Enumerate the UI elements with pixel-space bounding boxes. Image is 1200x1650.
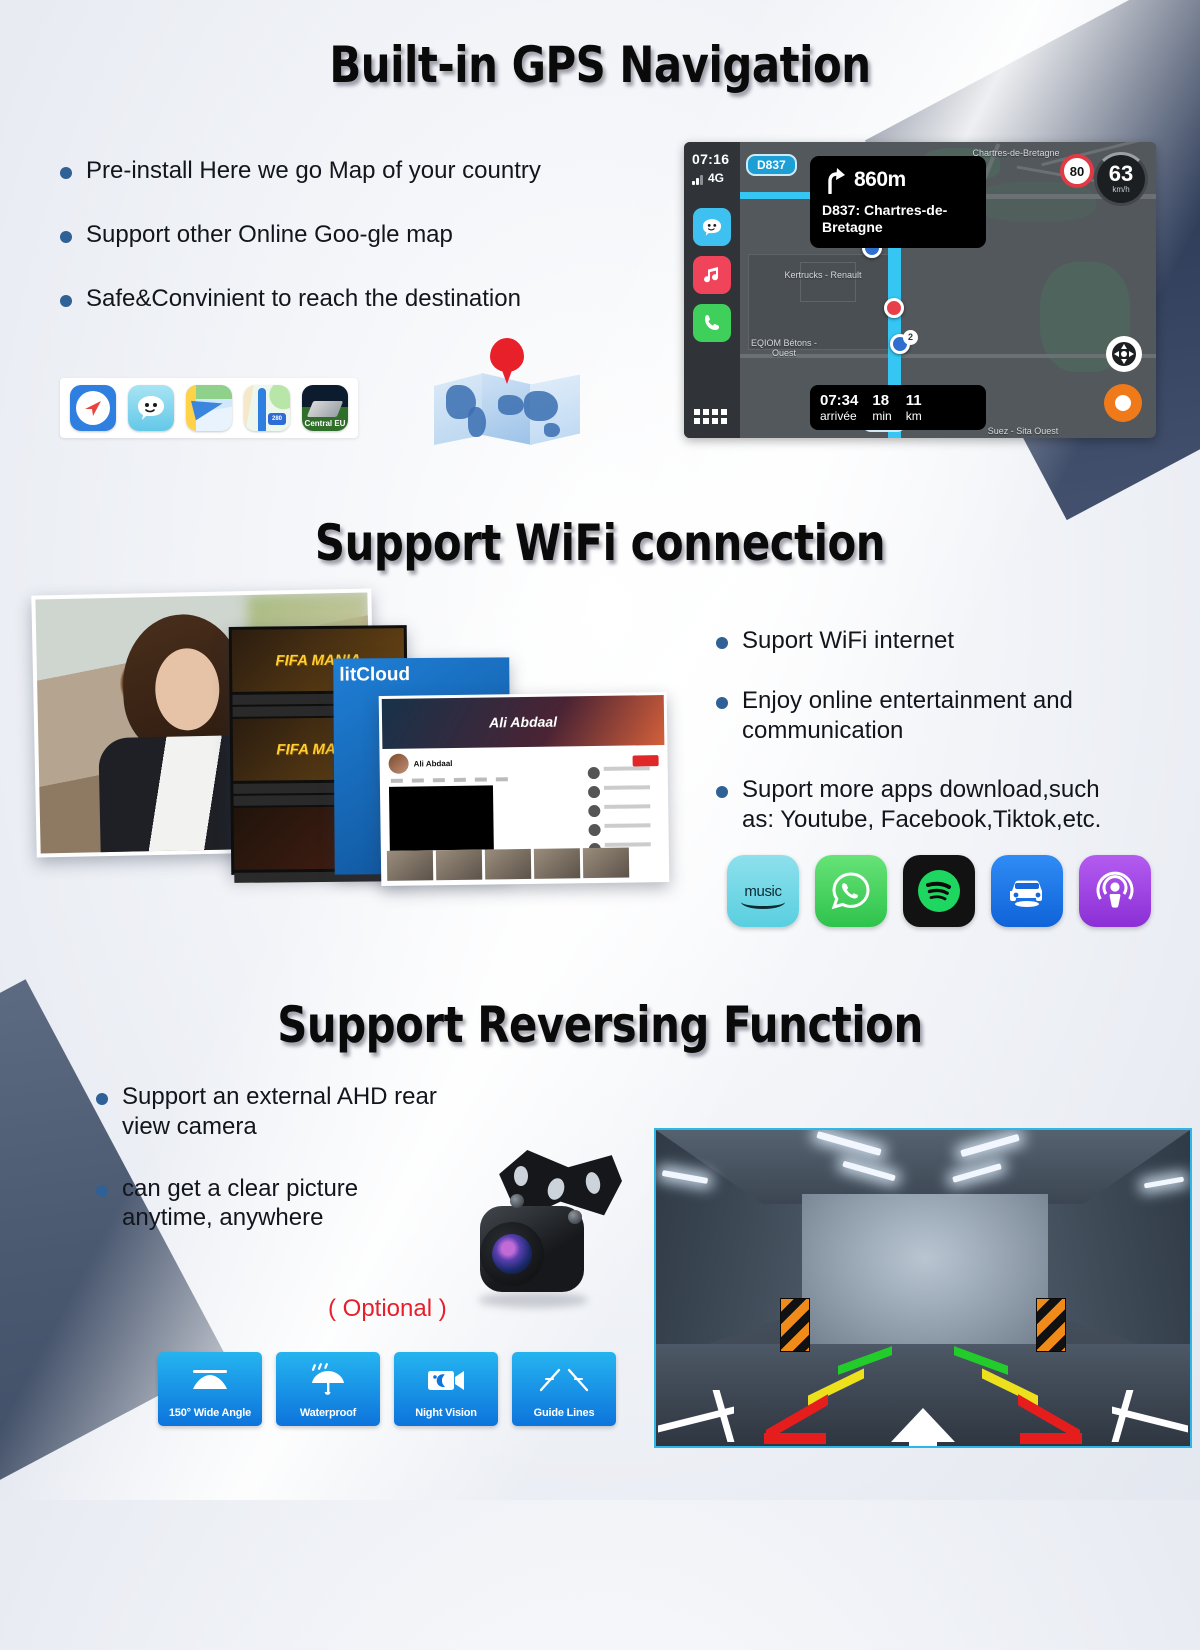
badge-label: Night Vision — [415, 1407, 477, 1419]
gps-section-title: Built-in GPS Navigation — [42, 0, 1158, 94]
sygic-label: Central EU — [302, 419, 348, 428]
list-item: can get a clear picture anytime, anywher… — [92, 1174, 442, 1234]
network-type-label: 4G — [708, 171, 724, 185]
list-item: Safe&Convinient to reach the destination — [56, 284, 596, 314]
reversing-feature-list: Support an external AHD rear view camera… — [92, 1082, 442, 1265]
distance-value: 11 — [906, 392, 922, 409]
map-pin-icon — [490, 338, 524, 372]
carplay-status-bar: 07:16 4G — [684, 142, 740, 185]
wifi-section-title: Support WiFi connection — [42, 500, 1158, 572]
speed-unit: km/h — [1112, 185, 1129, 194]
hazard-report-marker[interactable] — [884, 298, 904, 318]
here-wego-icon[interactable] — [70, 385, 116, 431]
eta-label: arrivée — [820, 409, 858, 423]
carplay-map-canvas[interactable]: D837 D34 D837 Chartres-de-Bretagne Kertr… — [740, 142, 1156, 438]
turn-right-arrow-icon — [822, 166, 846, 194]
direction-arrow-icon — [891, 1408, 955, 1442]
page: Built-in GPS Navigation Pre-install Here… — [0, 0, 1200, 1500]
badge-guide-lines: Guide Lines — [512, 1352, 616, 1426]
police-report-marker-group[interactable]: 2 — [890, 334, 910, 354]
place-label: Suez - Sita Ouest — [984, 426, 1062, 436]
gps-feature-list: Pre-install Here we go Map of your count… — [56, 156, 596, 347]
road-badge-d837: D837 — [746, 154, 797, 176]
signal-strength-icon: 4G — [692, 171, 740, 185]
badge-waterproof: Waterproof — [276, 1352, 380, 1426]
apple-maps-icon[interactable]: 280 — [244, 385, 290, 431]
channel-name: Ali Abdaal — [489, 714, 557, 731]
distance-unit: km — [906, 409, 922, 423]
badge-wide-angle: 150° Wide Angle — [158, 1352, 262, 1426]
spotify-icon[interactable] — [903, 855, 975, 927]
eta-duration: 18 min — [872, 392, 891, 423]
optional-label: ( Optional ) — [328, 1295, 447, 1323]
google-maps-icon[interactable] — [186, 385, 232, 431]
report-count-badge: 2 — [903, 330, 918, 345]
splitcloud-label: litCloud — [339, 663, 503, 686]
wifi-feature-list: Suport WiFi internet Enjoy online entert… — [712, 626, 1112, 865]
pan-control-icon[interactable] — [1106, 336, 1142, 372]
eta-distance: 11 km — [906, 392, 922, 423]
speed-value: 63 — [1109, 164, 1133, 185]
waterproof-umbrella-icon — [276, 1361, 380, 1399]
wifi-screens-collage: FIFA MANIA FIFA MANIA litCloud Ali Abdaa… — [34, 590, 674, 890]
maneuver-street: D837: Chartres-de-Bretagne — [822, 202, 974, 236]
list-item: Support other Online Goo-gle map — [56, 220, 596, 250]
section-gps-navigation: Built-in GPS Navigation Pre-install Here… — [0, 0, 1200, 500]
status-time: 07:16 — [692, 151, 740, 167]
carplay-app-dock — [693, 208, 731, 342]
maneuver-card: 860m D837: Chartres-de-Bretagne — [810, 156, 986, 248]
reversing-camera-view — [654, 1128, 1192, 1448]
wifi-app-icon-row: music — [727, 855, 1151, 927]
duration-value: 18 — [872, 392, 891, 409]
youtube-channel-screen: Ali Abdaal Ali Abdaal — [379, 692, 670, 886]
whatsapp-icon[interactable] — [815, 855, 887, 927]
channel-name-label: Ali Abdaal — [414, 758, 453, 768]
avatar — [388, 754, 408, 774]
video-player[interactable] — [389, 785, 494, 850]
report-button[interactable] — [1104, 384, 1142, 422]
list-item: Pre-install Here we go Map of your count… — [56, 156, 596, 186]
badge-label: Guide Lines — [534, 1407, 595, 1419]
navigation-app-icon-row: 280 Central EU — [60, 378, 358, 438]
list-item: Support an external AHD rear view camera — [92, 1082, 442, 1142]
list-item: Suport WiFi internet — [712, 626, 1112, 656]
app-grid-icon[interactable] — [694, 409, 727, 424]
guide-line-red-bar-right — [1020, 1433, 1082, 1444]
reversing-section-title: Support Reversing Function — [42, 980, 1158, 1054]
waze-icon[interactable] — [693, 208, 731, 246]
guide-line-red-bar-left — [764, 1433, 826, 1444]
rear-view-camera-product-photo — [452, 1150, 632, 1330]
badge-night-vision: Night Vision — [394, 1352, 498, 1426]
wide-angle-icon — [158, 1361, 262, 1399]
phone-icon[interactable] — [693, 304, 731, 342]
place-label: Kertrucks - Renault — [778, 270, 868, 280]
eta-time: 07:34 — [820, 392, 858, 409]
apple-podcasts-icon[interactable] — [1079, 855, 1151, 927]
eta-arrival: 07:34 arrivée — [820, 392, 858, 423]
music-icon[interactable] — [693, 256, 731, 294]
sygic-icon[interactable]: Central EU — [302, 385, 348, 431]
speed-limit-sign: 80 — [1060, 154, 1094, 188]
camera-feature-badges: 150° Wide Angle Waterproof — [158, 1352, 616, 1426]
night-vision-camera-icon — [394, 1361, 498, 1399]
carplay-navigation-screen[interactable]: 07:16 4G — [684, 142, 1156, 438]
parking-bay-line-right — [1068, 1384, 1188, 1440]
apple-maps-route-label: 280 — [268, 413, 286, 425]
guide-lines-icon — [512, 1361, 616, 1399]
waze-icon[interactable] — [128, 385, 174, 431]
list-item: Suport more apps download,such as: Youtu… — [712, 775, 1112, 835]
badge-label: Waterproof — [300, 1407, 356, 1419]
duration-unit: min — [872, 409, 891, 423]
badge-label: 150° Wide Angle — [169, 1407, 251, 1419]
amazon-music-icon[interactable]: music — [727, 855, 799, 927]
subscribe-button[interactable] — [633, 755, 659, 766]
list-item: Enjoy online entertainment and communica… — [712, 686, 1112, 746]
place-label: EQIOM Bétons - Ouest — [740, 338, 830, 359]
car-app-icon[interactable] — [991, 855, 1063, 927]
parking-bay-line-left — [658, 1384, 778, 1440]
maneuver-distance: 860m — [854, 168, 906, 192]
carplay-sidebar: 07:16 4G — [684, 142, 740, 438]
eta-bar: 07:34 arrivée 18 min 11 km — [810, 385, 986, 430]
speedometer: 63 km/h — [1094, 152, 1148, 206]
world-map-graphic — [432, 340, 582, 445]
